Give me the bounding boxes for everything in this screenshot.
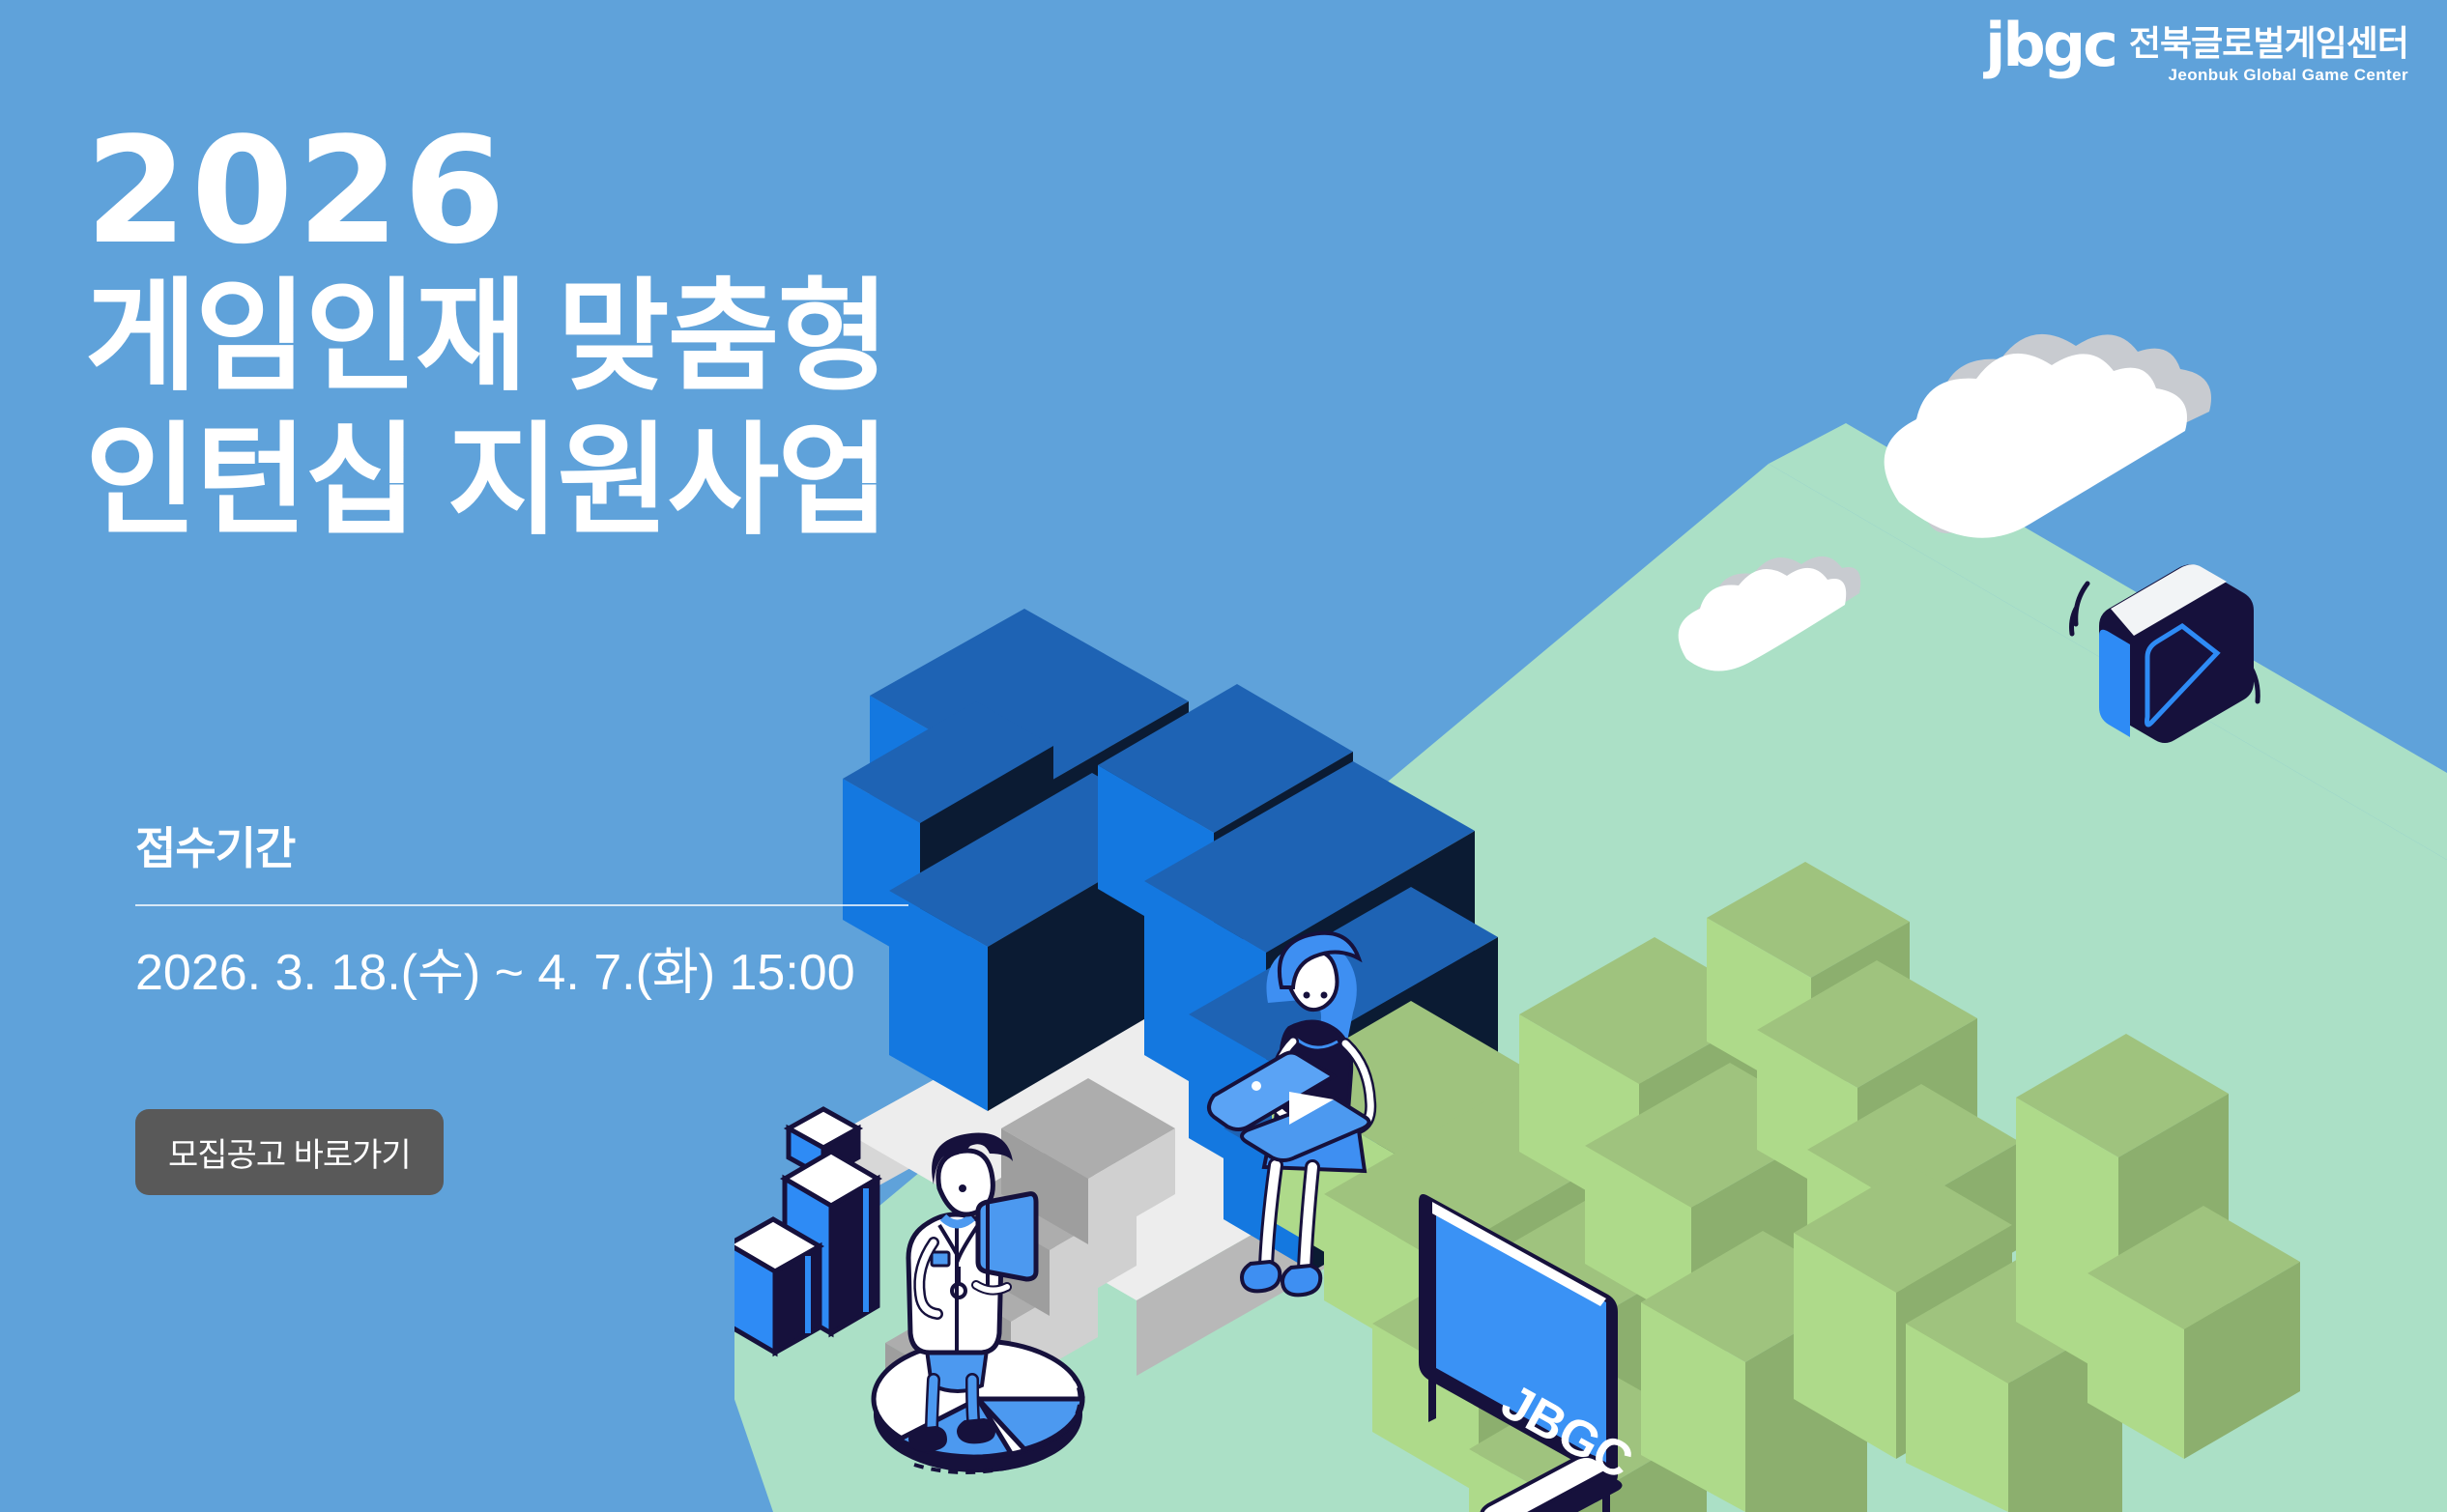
page-title: 2026 게임인재 맞춤형 인턴십 지원사업 xyxy=(85,116,887,553)
headline-year: 2026 xyxy=(85,116,887,266)
jbgc-logo[interactable]: jbgc 전북글로벌게임센터 Jeonbuk Global Game Cente… xyxy=(1985,17,2408,85)
logo-name-korean: 전북글로벌게임센터 xyxy=(2129,25,2408,62)
poster-canvas: JBGC jbgc 전북글로벌게임센터 Jeonbuk Global Game … xyxy=(0,0,2447,1512)
application-period-value: 2026. 3. 18.(수) ~ 4. 7.(화) 15:00 xyxy=(135,931,908,1004)
application-period-block: 접수기간 2026. 3. 18.(수) ~ 4. 7.(화) 15:00 xyxy=(135,813,908,1004)
headline-line-2: 인턴십 지원사업 xyxy=(85,410,887,554)
illustration-stage: JBGC xyxy=(734,319,2447,1512)
divider xyxy=(135,904,908,906)
logo-text-block: 전북글로벌게임센터 Jeonbuk Global Game Center xyxy=(2129,17,2408,85)
cloud-large-icon xyxy=(1885,334,2211,538)
recruitment-notice-link-button[interactable]: 모집공고 바로가기 xyxy=(135,1109,444,1195)
bar-chart-blocks xyxy=(734,1109,878,1353)
jbgc-wordmark-icon: jbgc xyxy=(1985,17,2116,74)
application-period-label: 접수기간 xyxy=(135,813,908,877)
logo-name-english: Jeonbuk Global Game Center xyxy=(2169,66,2408,85)
illustration-svg: JBGC xyxy=(734,319,2447,1512)
headline-line-1: 게임인재 맞춤형 xyxy=(85,266,887,410)
